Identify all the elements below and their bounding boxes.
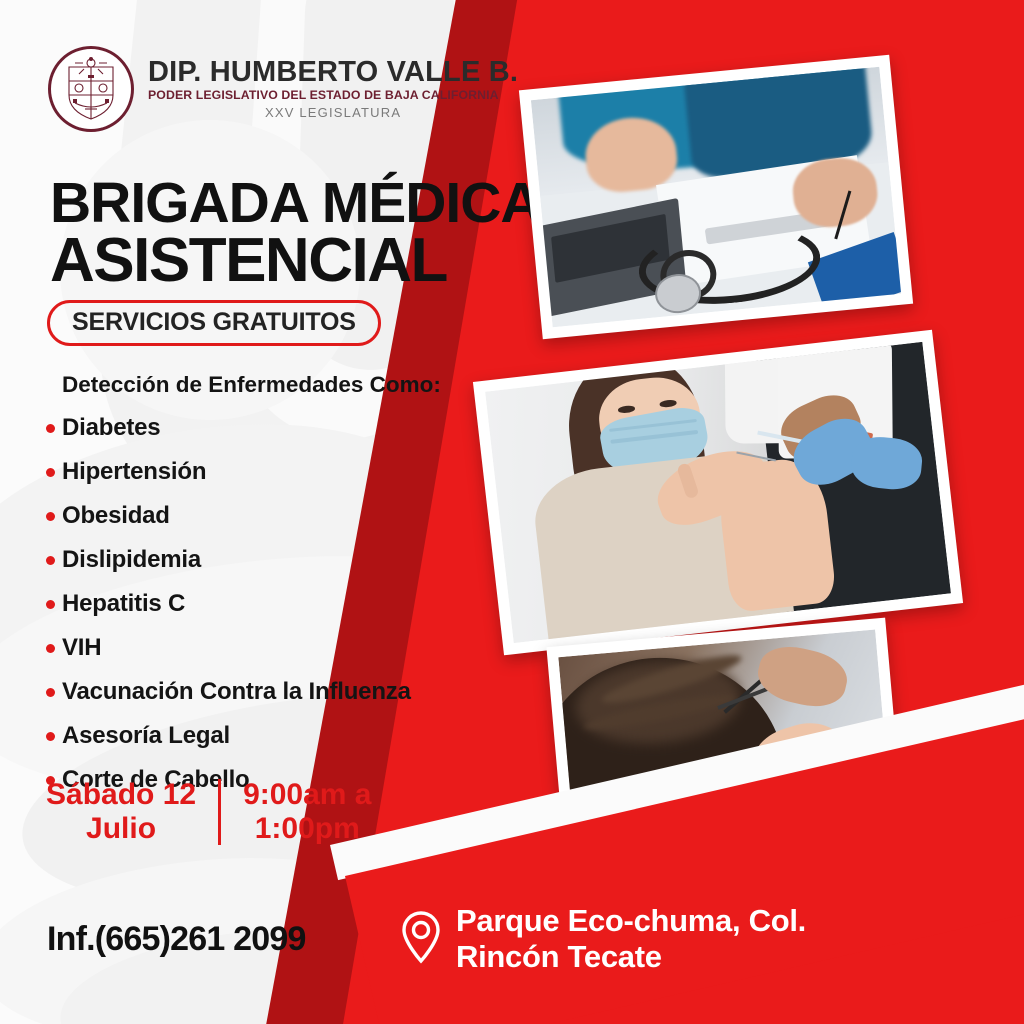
headline-line-2: ASISTENCIAL xyxy=(50,231,541,291)
coat-of-arms-icon xyxy=(48,46,134,132)
service-item: Dislipidemia xyxy=(46,538,411,582)
service-item-label: Obesidad xyxy=(62,502,170,530)
service-item: Vacunación Contra la Influenza xyxy=(46,670,411,714)
event-time-line-1: 9:00am a xyxy=(243,778,371,812)
poster-canvas: DIP. HUMBERTO VALLE B. PODER LEGISLATIVO… xyxy=(0,0,1024,1024)
event-date: Sábado 12 Julio xyxy=(46,778,196,845)
schedule-divider xyxy=(218,779,221,845)
headline-line-1: BRIGADA MÉDICA xyxy=(50,176,541,231)
address-block: Parque Eco-chuma, Col. Rincón Tecate xyxy=(400,903,1000,975)
service-item: Hipertensión xyxy=(46,450,411,494)
bullet-dot-icon xyxy=(46,512,55,521)
service-item-label: Hipertensión xyxy=(62,458,206,486)
schedule-block: Sábado 12 Julio 9:00am a 1:00pm xyxy=(46,778,372,845)
free-services-badge-label: SERVICIOS GRATUITOS xyxy=(72,309,356,335)
brand-name: DIP. HUMBERTO VALLE B. xyxy=(148,58,518,88)
brand-legislature: XXV LEGISLATURA xyxy=(148,104,518,122)
map-pin-icon xyxy=(400,910,442,969)
service-item-label: Diabetes xyxy=(62,414,160,442)
photo-vaccination xyxy=(473,330,963,656)
service-item-label: Hepatitis C xyxy=(62,590,185,618)
bullet-dot-icon xyxy=(46,600,55,609)
service-item-label: Vacunación Contra la Influenza xyxy=(62,678,411,706)
bullet-dot-icon xyxy=(46,688,55,697)
service-item: VIH xyxy=(46,626,411,670)
bullet-dot-icon xyxy=(46,424,55,433)
bullet-dot-icon xyxy=(46,556,55,565)
headline-block: BRIGADA MÉDICA ASISTENCIAL xyxy=(50,176,541,290)
bullet-dot-icon xyxy=(46,644,55,653)
services-heading: Detección de Enfermedades Como: xyxy=(62,372,441,398)
free-services-badge: SERVICIOS GRATUITOS xyxy=(47,300,381,346)
bullet-dot-icon xyxy=(46,732,55,741)
event-date-line-2: Julio xyxy=(46,812,196,846)
bullet-dot-icon xyxy=(46,468,55,477)
service-item: Asesoría Legal xyxy=(46,714,411,758)
event-date-line-1: Sábado 12 xyxy=(46,778,196,812)
address-line-1: Parque Eco-chuma, Col. xyxy=(456,903,806,938)
event-time: 9:00am a 1:00pm xyxy=(243,778,371,845)
photo-doctor-desk-stethoscope xyxy=(519,55,913,340)
service-item: Obesidad xyxy=(46,494,411,538)
service-item: Diabetes xyxy=(46,406,411,450)
service-item: Hepatitis C xyxy=(46,582,411,626)
services-list: DiabetesHipertensiónObesidadDislipidemia… xyxy=(46,406,411,802)
service-item-label: VIH xyxy=(62,634,101,662)
phone-number: Inf.(665)261 2099 xyxy=(47,920,306,959)
address-line-2: Rincón Tecate xyxy=(456,939,662,974)
service-item-label: Asesoría Legal xyxy=(62,722,230,750)
address-text: Parque Eco-chuma, Col. Rincón Tecate xyxy=(456,903,806,975)
brand-institution: PODER LEGISLATIVO DEL ESTADO DE BAJA CAL… xyxy=(148,88,518,104)
brand-lockup: DIP. HUMBERTO VALLE B. PODER LEGISLATIVO… xyxy=(48,46,518,132)
service-item-label: Dislipidemia xyxy=(62,546,201,574)
